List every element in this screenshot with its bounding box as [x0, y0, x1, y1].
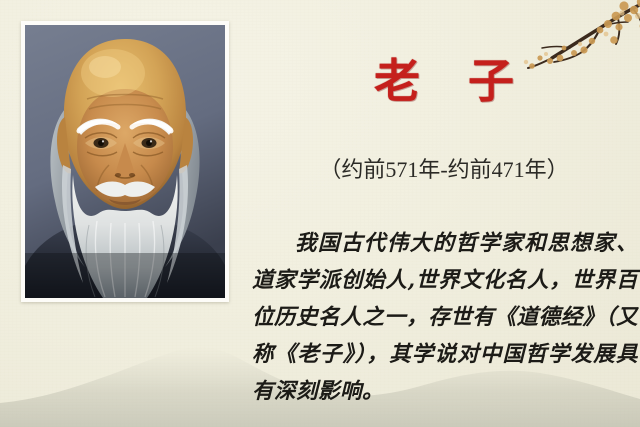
- portrait-image: [25, 25, 225, 298]
- portrait-frame: [21, 21, 229, 302]
- laozi-portrait-illustration: [25, 25, 225, 298]
- biography-paragraph: 我国古代伟大的哲学家和思想家、道家学派创始人,世界文化名人，世界百位历史名人之一…: [252, 225, 638, 410]
- text-content-column: 老 子 （约前571年-约前471年） 我国古代伟大的哲学家和思想家、道家学派创…: [248, 0, 640, 427]
- laozi-info-card: 老 子 （约前571年-约前471年） 我国古代伟大的哲学家和思想家、道家学派创…: [0, 0, 640, 427]
- page-title: 老 子: [248, 58, 640, 104]
- lifespan-dates: （约前571年-约前471年）: [248, 157, 640, 183]
